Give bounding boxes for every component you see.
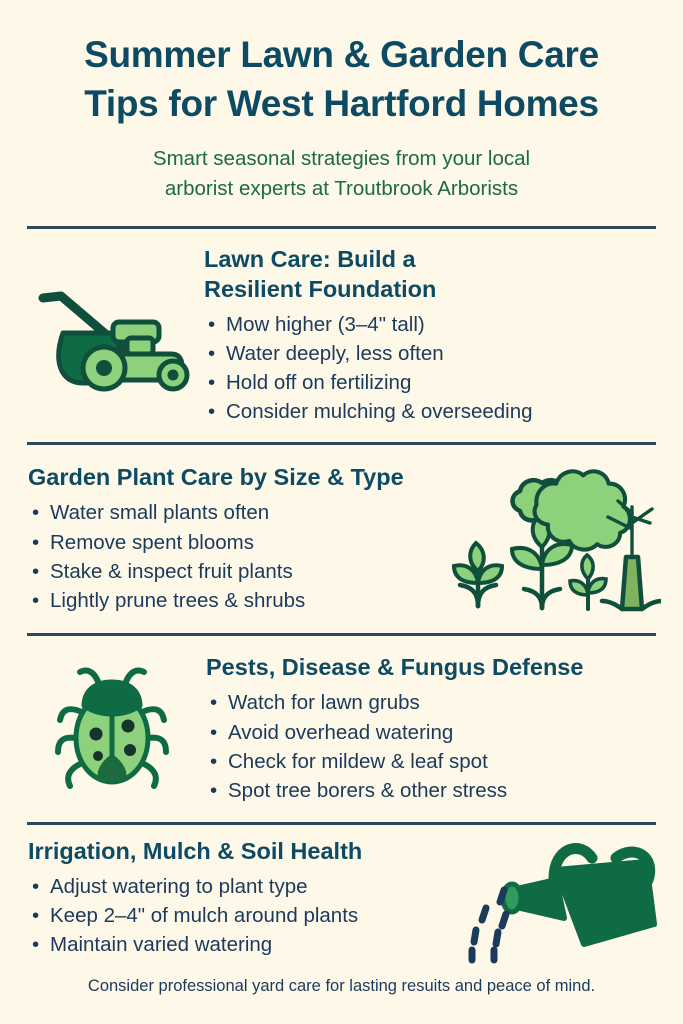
- subtitle: Smart seasonal strategies from your loca…: [22, 144, 661, 202]
- pests-heading: Pests, Disease & Fungus Defense: [206, 652, 663, 682]
- list-item-label: Mow higher (3–4" tall): [226, 313, 425, 336]
- list-item: •Watch for lawn grubs: [206, 688, 663, 717]
- list-item-label: Maintain varied watering: [50, 933, 272, 956]
- bullet-icon: •: [32, 586, 39, 615]
- lawn-mower-icon: [22, 276, 200, 394]
- list-item: •Water deeply, less often: [204, 339, 663, 368]
- footer-note: Consider professional yard care for last…: [0, 971, 683, 996]
- list-item: •Stake & inspect fruit plants: [28, 557, 437, 586]
- list-item: •Check for mildew & leaf spot: [206, 747, 663, 776]
- list-item-label: Adjust watering to plant type: [50, 875, 308, 898]
- bullet-icon: •: [32, 901, 39, 930]
- bullet-icon: •: [210, 688, 217, 717]
- plants-and-tree-icon: [443, 461, 663, 616]
- page-title-line-1: Summer Lawn & Garden Care: [22, 30, 661, 79]
- header: Summer Lawn & Garden Care Tips for West …: [0, 0, 683, 203]
- list-item-label: Avoid overhead watering: [228, 721, 453, 744]
- bullet-icon: •: [32, 872, 39, 901]
- irrigation-bullet-list: •Adjust watering to plant type •Keep 2–4…: [28, 872, 457, 959]
- list-item: •Avoid overhead watering: [206, 718, 663, 747]
- bullet-icon: •: [208, 397, 215, 426]
- garden-plant-care-body: Garden Plant Care by Size & Type •Water …: [28, 462, 443, 615]
- pests-bullet-list: •Watch for lawn grubs •Avoid overhead wa…: [206, 688, 663, 804]
- section-irrigation-mulch-soil: Irrigation, Mulch & Soil Health •Adjust …: [0, 825, 683, 971]
- bullet-icon: •: [32, 498, 39, 527]
- irrigation-heading: Irrigation, Mulch & Soil Health: [28, 836, 457, 866]
- garden-plant-care-heading: Garden Plant Care by Size & Type: [28, 462, 437, 492]
- list-item: •Spot tree borers & other stress: [206, 776, 663, 805]
- bullet-icon: •: [32, 930, 39, 959]
- list-item: •Maintain varied watering: [28, 930, 457, 959]
- list-item: •Hold off on fertilizing: [204, 368, 663, 397]
- list-item-label: Lightly prune trees & shrubs: [50, 589, 305, 612]
- lawn-care-body: Lawn Care: Build a Resilient Foundation …: [200, 244, 663, 427]
- ladybug-icon: [22, 662, 202, 796]
- list-item-label: Spot tree borers & other stress: [228, 779, 507, 802]
- bullet-icon: •: [32, 528, 39, 557]
- bullet-icon: •: [210, 718, 217, 747]
- bullet-icon: •: [210, 776, 217, 805]
- section-lawn-care: Lawn Care: Build a Resilient Foundation …: [0, 229, 683, 442]
- lawn-care-bullet-list: •Mow higher (3–4" tall) •Water deeply, l…: [204, 310, 663, 426]
- pests-body: Pests, Disease & Fungus Defense •Watch f…: [202, 652, 663, 805]
- bullet-icon: •: [208, 310, 215, 339]
- list-item: •Adjust watering to plant type: [28, 872, 457, 901]
- list-item: •Water small plants often: [28, 498, 437, 527]
- subtitle-line-1: Smart seasonal strategies from your loca…: [22, 144, 661, 173]
- list-item-label: Water deeply, less often: [226, 342, 444, 365]
- infographic-page: Summer Lawn & Garden Care Tips for West …: [0, 0, 683, 1024]
- bullet-icon: •: [208, 339, 215, 368]
- list-item: •Remove spent blooms: [28, 528, 437, 557]
- list-item-label: Consider mulching & overseeding: [226, 400, 533, 423]
- list-item: •Consider mulching & overseeding: [204, 397, 663, 426]
- list-item: •Keep 2–4" of mulch around plants: [28, 901, 457, 930]
- subtitle-line-2: arborist experts at Troutbrook Arborists: [22, 174, 661, 203]
- bullet-icon: •: [32, 557, 39, 586]
- watering-can-icon: [463, 832, 663, 964]
- list-item-label: Stake & inspect fruit plants: [50, 560, 293, 583]
- page-title-line-2: Tips for West Hartford Homes: [22, 79, 661, 128]
- list-item-label: Remove spent blooms: [50, 531, 254, 554]
- list-item-label: Water small plants often: [50, 501, 269, 524]
- list-item-label: Keep 2–4" of mulch around plants: [50, 904, 358, 927]
- list-item: •Mow higher (3–4" tall): [204, 310, 663, 339]
- bullet-icon: •: [210, 747, 217, 776]
- section-garden-plant-care: Garden Plant Care by Size & Type •Water …: [0, 445, 683, 633]
- list-item-label: Watch for lawn grubs: [228, 691, 420, 714]
- list-item-label: Check for mildew & leaf spot: [228, 750, 488, 773]
- bullet-icon: •: [208, 368, 215, 397]
- list-item: •Lightly prune trees & shrubs: [28, 586, 437, 615]
- garden-plant-care-bullet-list: •Water small plants often •Remove spent …: [28, 498, 437, 614]
- section-pests-disease-fungus: Pests, Disease & Fungus Defense •Watch f…: [0, 636, 683, 822]
- irrigation-body: Irrigation, Mulch & Soil Health •Adjust …: [28, 836, 463, 959]
- list-item-label: Hold off on fertilizing: [226, 371, 411, 394]
- lawn-care-heading: Lawn Care: Build a Resilient Foundation: [204, 244, 504, 304]
